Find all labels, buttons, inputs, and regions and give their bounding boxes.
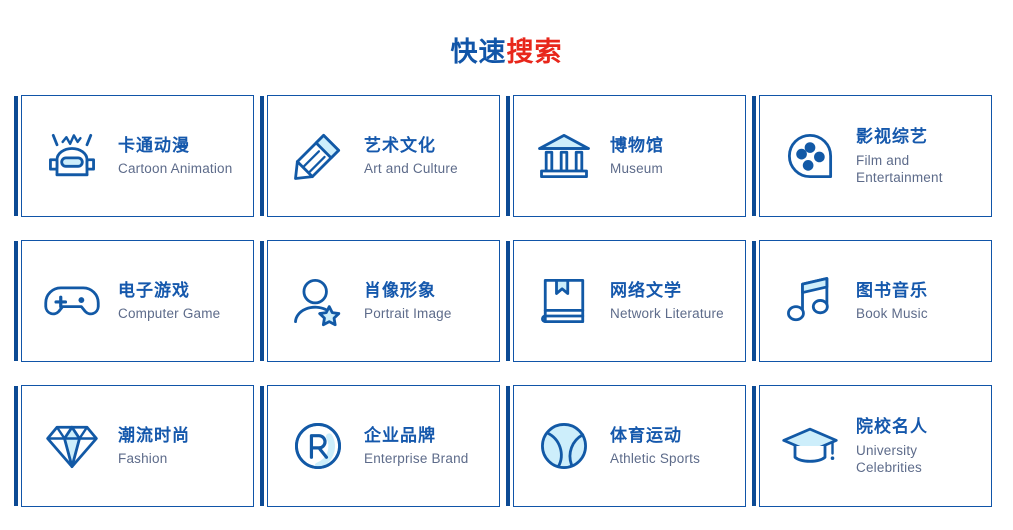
page-title-primary: 快速: [451, 37, 507, 67]
robot-icon: [40, 124, 104, 188]
category-label-cn: 图书音乐: [856, 280, 928, 302]
category-label-en: Film and Entertainment: [856, 152, 951, 187]
category-card-text: 网络文学Network Literature: [610, 280, 724, 323]
quick-search-card-grid: 卡通动漫Cartoon Animation 艺术文化Art and Cultur…: [21, 95, 993, 507]
category-label-cn: 网络文学: [610, 280, 724, 302]
diamond-icon: [40, 414, 104, 478]
category-card[interactable]: 博物馆Museum: [513, 95, 746, 217]
person-star-icon: [286, 269, 350, 333]
category-card-text: 艺术文化Art and Culture: [364, 135, 458, 178]
category-card-text: 图书音乐Book Music: [856, 280, 928, 323]
pencil-icon: [286, 124, 350, 188]
category-label-cn: 潮流时尚: [118, 425, 190, 447]
category-card[interactable]: 艺术文化Art and Culture: [267, 95, 500, 217]
category-label-en: Book Music: [856, 305, 928, 322]
category-label-cn: 院校名人: [856, 416, 951, 438]
category-card-text: 电子游戏Computer Game: [118, 280, 220, 323]
category-card-text: 潮流时尚Fashion: [118, 425, 190, 468]
category-label-cn: 体育运动: [610, 425, 700, 447]
category-card-text: 影视综艺Film and Entertainment: [856, 126, 951, 186]
category-label-en: Enterprise Brand: [364, 450, 469, 467]
category-label-en: Network Literature: [610, 305, 724, 322]
category-card[interactable]: 潮流时尚Fashion: [21, 385, 254, 507]
category-card[interactable]: 肖像形象Portrait Image: [267, 240, 500, 362]
category-label-cn: 企业品牌: [364, 425, 469, 447]
category-label-cn: 卡通动漫: [118, 135, 232, 157]
category-label-en: Cartoon Animation: [118, 160, 232, 177]
category-label-cn: 肖像形象: [364, 280, 452, 302]
page-title: 快速搜索: [0, 18, 1013, 72]
category-label-en: Fashion: [118, 450, 190, 467]
category-label-en: Portrait Image: [364, 305, 452, 322]
film-reel-icon: [778, 124, 842, 188]
museum-icon: [532, 124, 596, 188]
category-card-text: 博物馆Museum: [610, 135, 664, 178]
graduation-cap-icon: [778, 414, 842, 478]
category-label-cn: 艺术文化: [364, 135, 458, 157]
book-icon: [532, 269, 596, 333]
category-card[interactable]: 体育运动Athletic Sports: [513, 385, 746, 507]
category-card-text: 院校名人University Celebrities: [856, 416, 951, 476]
category-card[interactable]: 影视综艺Film and Entertainment: [759, 95, 992, 217]
category-card[interactable]: 卡通动漫Cartoon Animation: [21, 95, 254, 217]
category-label-en: Museum: [610, 160, 664, 177]
category-label-cn: 电子游戏: [118, 280, 220, 302]
category-label-en: Athletic Sports: [610, 450, 700, 467]
category-label-en: Computer Game: [118, 305, 220, 322]
category-card-text: 企业品牌Enterprise Brand: [364, 425, 469, 468]
category-label-en: Art and Culture: [364, 160, 458, 177]
category-card[interactable]: 院校名人University Celebrities: [759, 385, 992, 507]
category-card[interactable]: 企业品牌Enterprise Brand: [267, 385, 500, 507]
category-card-text: 肖像形象Portrait Image: [364, 280, 452, 323]
category-label-en: University Celebrities: [856, 442, 951, 477]
registered-r-icon: [286, 414, 350, 478]
page-title-accent: 搜索: [507, 37, 563, 67]
category-card-text: 卡通动漫Cartoon Animation: [118, 135, 232, 178]
category-label-cn: 博物馆: [610, 135, 664, 157]
gamepad-icon: [40, 269, 104, 333]
music-note-icon: [778, 269, 842, 333]
category-card[interactable]: 图书音乐Book Music: [759, 240, 992, 362]
category-card[interactable]: 网络文学Network Literature: [513, 240, 746, 362]
category-label-cn: 影视综艺: [856, 126, 951, 148]
category-card[interactable]: 电子游戏Computer Game: [21, 240, 254, 362]
category-card-text: 体育运动Athletic Sports: [610, 425, 700, 468]
tennis-ball-icon: [532, 414, 596, 478]
